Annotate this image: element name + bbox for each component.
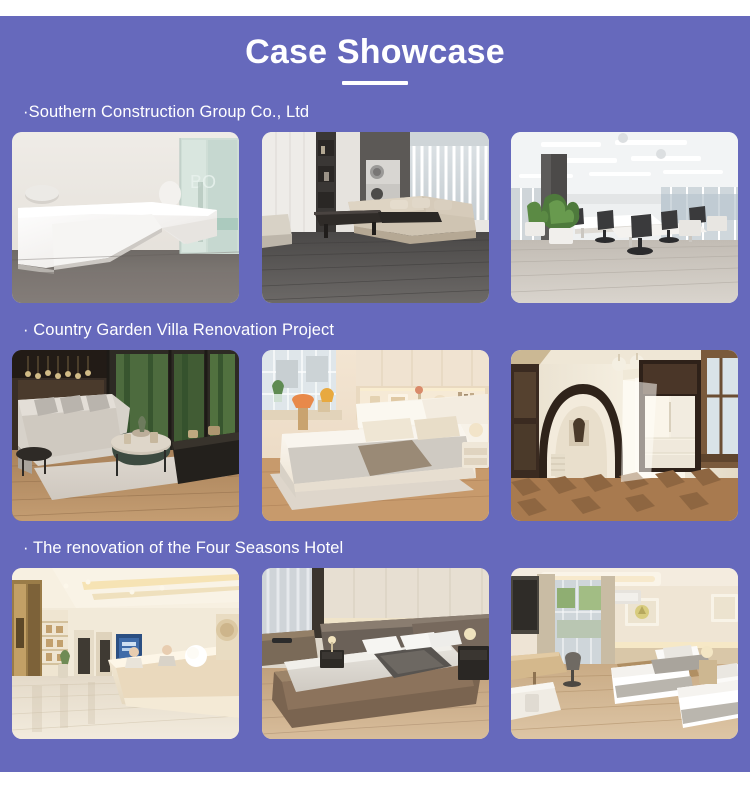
image-row bbox=[0, 568, 750, 739]
case-image-open-plan-office[interactable] bbox=[511, 132, 738, 303]
page-title: Case Showcase bbox=[0, 32, 750, 72]
section-four-seasons-hotel: · The renovation of the Four Seasons Hot… bbox=[0, 538, 750, 739]
section-southern-construction: ·Southern Construction Group Co., Ltd bbox=[0, 102, 750, 303]
hotel-lobby-reception-counter-illustration bbox=[12, 568, 239, 739]
case-image-hotel-lobby-reception-counter[interactable] bbox=[12, 568, 239, 739]
hotel-twin-bed-room-illustration bbox=[511, 568, 738, 739]
case-image-cream-bedroom-upholstered-bed[interactable] bbox=[262, 350, 489, 521]
open-plan-office-illustration bbox=[511, 132, 738, 303]
case-image-villa-living-room-forest-view[interactable] bbox=[12, 350, 239, 521]
section-label: · The renovation of the Four Seasons Hot… bbox=[0, 538, 750, 558]
image-row: BO bbox=[0, 132, 750, 303]
svg-text:BO: BO bbox=[190, 172, 216, 192]
title-underline bbox=[342, 81, 408, 85]
section-country-garden-villa: · Country Garden Villa Renovation Projec… bbox=[0, 320, 750, 521]
hotel-room-platform-bed-illustration bbox=[262, 568, 489, 739]
case-image-hotel-twin-bed-room[interactable] bbox=[511, 568, 738, 739]
arched-hallway-chevron-floor-illustration bbox=[511, 350, 738, 521]
case-image-hotel-room-platform-bed[interactable] bbox=[262, 568, 489, 739]
modern-living-room-dark-floor-illustration bbox=[262, 132, 489, 303]
section-label: ·Southern Construction Group Co., Ltd bbox=[0, 102, 750, 122]
section-label: · Country Garden Villa Renovation Projec… bbox=[0, 320, 750, 340]
white-sculptural-reception-desk-illustration: BO bbox=[12, 132, 239, 303]
case-image-white-sculptural-reception-desk[interactable]: BO bbox=[12, 132, 239, 303]
purple-panel: Case Showcase ·Southern Construction Gro… bbox=[0, 16, 750, 772]
case-showcase-page: Case Showcase ·Southern Construction Gro… bbox=[0, 0, 750, 792]
image-row bbox=[0, 350, 750, 521]
villa-living-room-forest-view-illustration bbox=[12, 350, 239, 521]
cream-bedroom-upholstered-bed-illustration bbox=[262, 350, 489, 521]
header: Case Showcase bbox=[0, 16, 750, 85]
case-image-modern-living-room-dark-floor[interactable] bbox=[262, 132, 489, 303]
case-image-arched-hallway-chevron-floor[interactable] bbox=[511, 350, 738, 521]
